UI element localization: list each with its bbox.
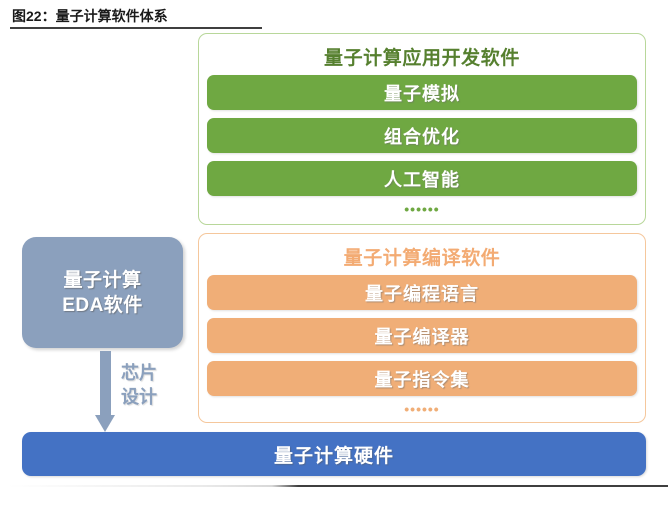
ellipsis-application: •••••• xyxy=(404,203,439,215)
section-title-application: 量子计算应用开发软件 xyxy=(324,43,520,70)
chip-design-arrow-icon xyxy=(95,351,117,432)
chip-design-label-line-1: 芯片 xyxy=(121,361,157,385)
bottom-divider xyxy=(8,485,668,487)
pill-quantum-programming-language: 量子编程语言 xyxy=(207,275,637,310)
chip-design-label-line-2: 设计 xyxy=(121,385,157,409)
eda-label-line-2: EDA软件 xyxy=(62,293,143,318)
eda-software-box: 量子计算 EDA软件 xyxy=(22,237,183,348)
eda-label-line-1: 量子计算 xyxy=(63,268,141,293)
hardware-bar: 量子计算硬件 xyxy=(22,432,646,476)
pill-quantum-instruction-set: 量子指令集 xyxy=(207,361,637,396)
chip-design-label: 芯片 设计 xyxy=(121,361,157,409)
arrow-head xyxy=(95,415,115,432)
title-divider xyxy=(10,27,262,29)
section-application-software: 量子计算应用开发软件 量子模拟 组合优化 人工智能 •••••• xyxy=(198,33,646,225)
figure-title: 图22：量子计算软件体系 xyxy=(12,6,168,26)
pill-artificial-intelligence: 人工智能 xyxy=(207,161,637,196)
hardware-label: 量子计算硬件 xyxy=(274,441,394,468)
section-title-compiler: 量子计算编译软件 xyxy=(344,243,501,270)
ellipsis-compiler: •••••• xyxy=(404,403,439,415)
pill-quantum-simulation: 量子模拟 xyxy=(207,75,637,110)
arrow-shaft xyxy=(100,351,111,417)
pill-combinatorial-optimization: 组合优化 xyxy=(207,118,637,153)
pill-quantum-compiler: 量子编译器 xyxy=(207,318,637,353)
section-compiler-software: 量子计算编译软件 量子编程语言 量子编译器 量子指令集 •••••• xyxy=(198,233,646,423)
